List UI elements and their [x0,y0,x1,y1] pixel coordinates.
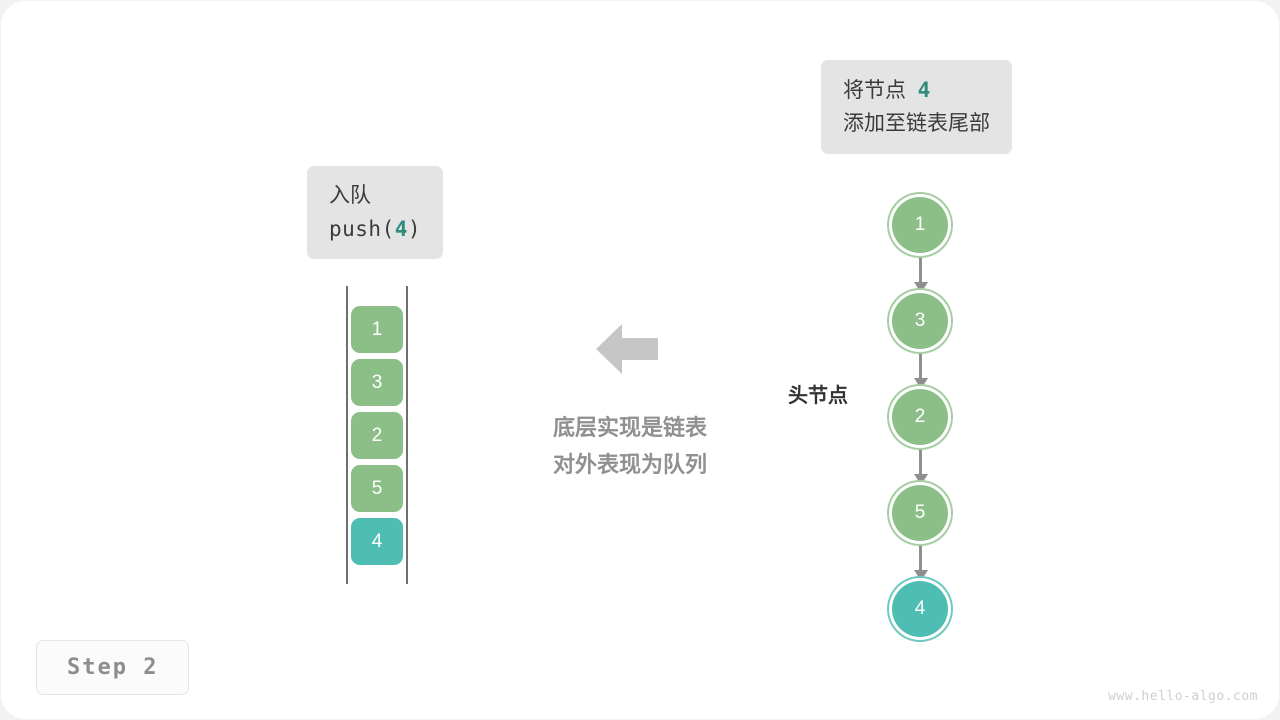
list-node: 1 [892,197,948,253]
center-note-line1: 底层实现是链表 [530,410,730,447]
stack-cell-new: 4 [351,518,403,565]
callout-push-fn-prefix: push( [329,217,395,241]
callout-tail-value: 4 [918,78,931,102]
list-node: 3 [892,293,948,349]
callout-push-fn-suffix: ) [408,217,421,241]
diagram-canvas: 入队 push(4) 将节点 4 添加至链表尾部 1 3 2 5 4 底层实现是… [0,0,1280,720]
callout-push-line2: push(4) [329,213,421,246]
callout-push-line1: 入队 [329,180,421,213]
arrow-head-icon [914,282,928,293]
arrow-head-icon [914,378,928,389]
callout-tail-line2: 添加至链表尾部 [843,108,990,141]
list-edge [919,258,922,292]
stack-cell: 3 [351,359,403,406]
list-node-new: 4 [892,581,948,637]
callout-push-value: 4 [395,217,408,241]
list-edge [919,450,922,484]
arrow-head-icon [914,570,928,581]
callout-push-operation: 入队 push(4) [307,166,443,259]
list-edge [919,354,922,388]
arrow-head-icon [914,474,928,485]
callout-tail-line1-text: 将节点 [843,79,906,102]
stack-cell: 5 [351,465,403,512]
stack-rail-left [346,286,348,584]
stack-cell: 2 [351,412,403,459]
list-node: 5 [892,485,948,541]
left-arrow-icon [596,320,658,383]
stack-cell: 1 [351,306,403,353]
watermark: www.hello-algo.com [1108,689,1258,704]
callout-tail-line1: 将节点 4 [843,74,990,108]
head-node-label: 头节点 [728,379,848,408]
list-edge-new [919,546,922,580]
list-node: 2 [892,389,948,445]
center-note: 底层实现是链表 对外表现为队列 [530,410,730,484]
center-note-line2: 对外表现为队列 [530,447,730,484]
step-badge: Step 2 [36,640,189,695]
stack-rail-right [406,286,408,584]
stack-cell-list: 1 3 2 5 4 [351,306,403,565]
queue-cell-stack: 1 3 2 5 4 [346,286,408,584]
linked-list: 头节点 尾节点 1 3 2 5 4 [858,180,982,660]
callout-append-to-tail: 将节点 4 添加至链表尾部 [821,60,1012,154]
